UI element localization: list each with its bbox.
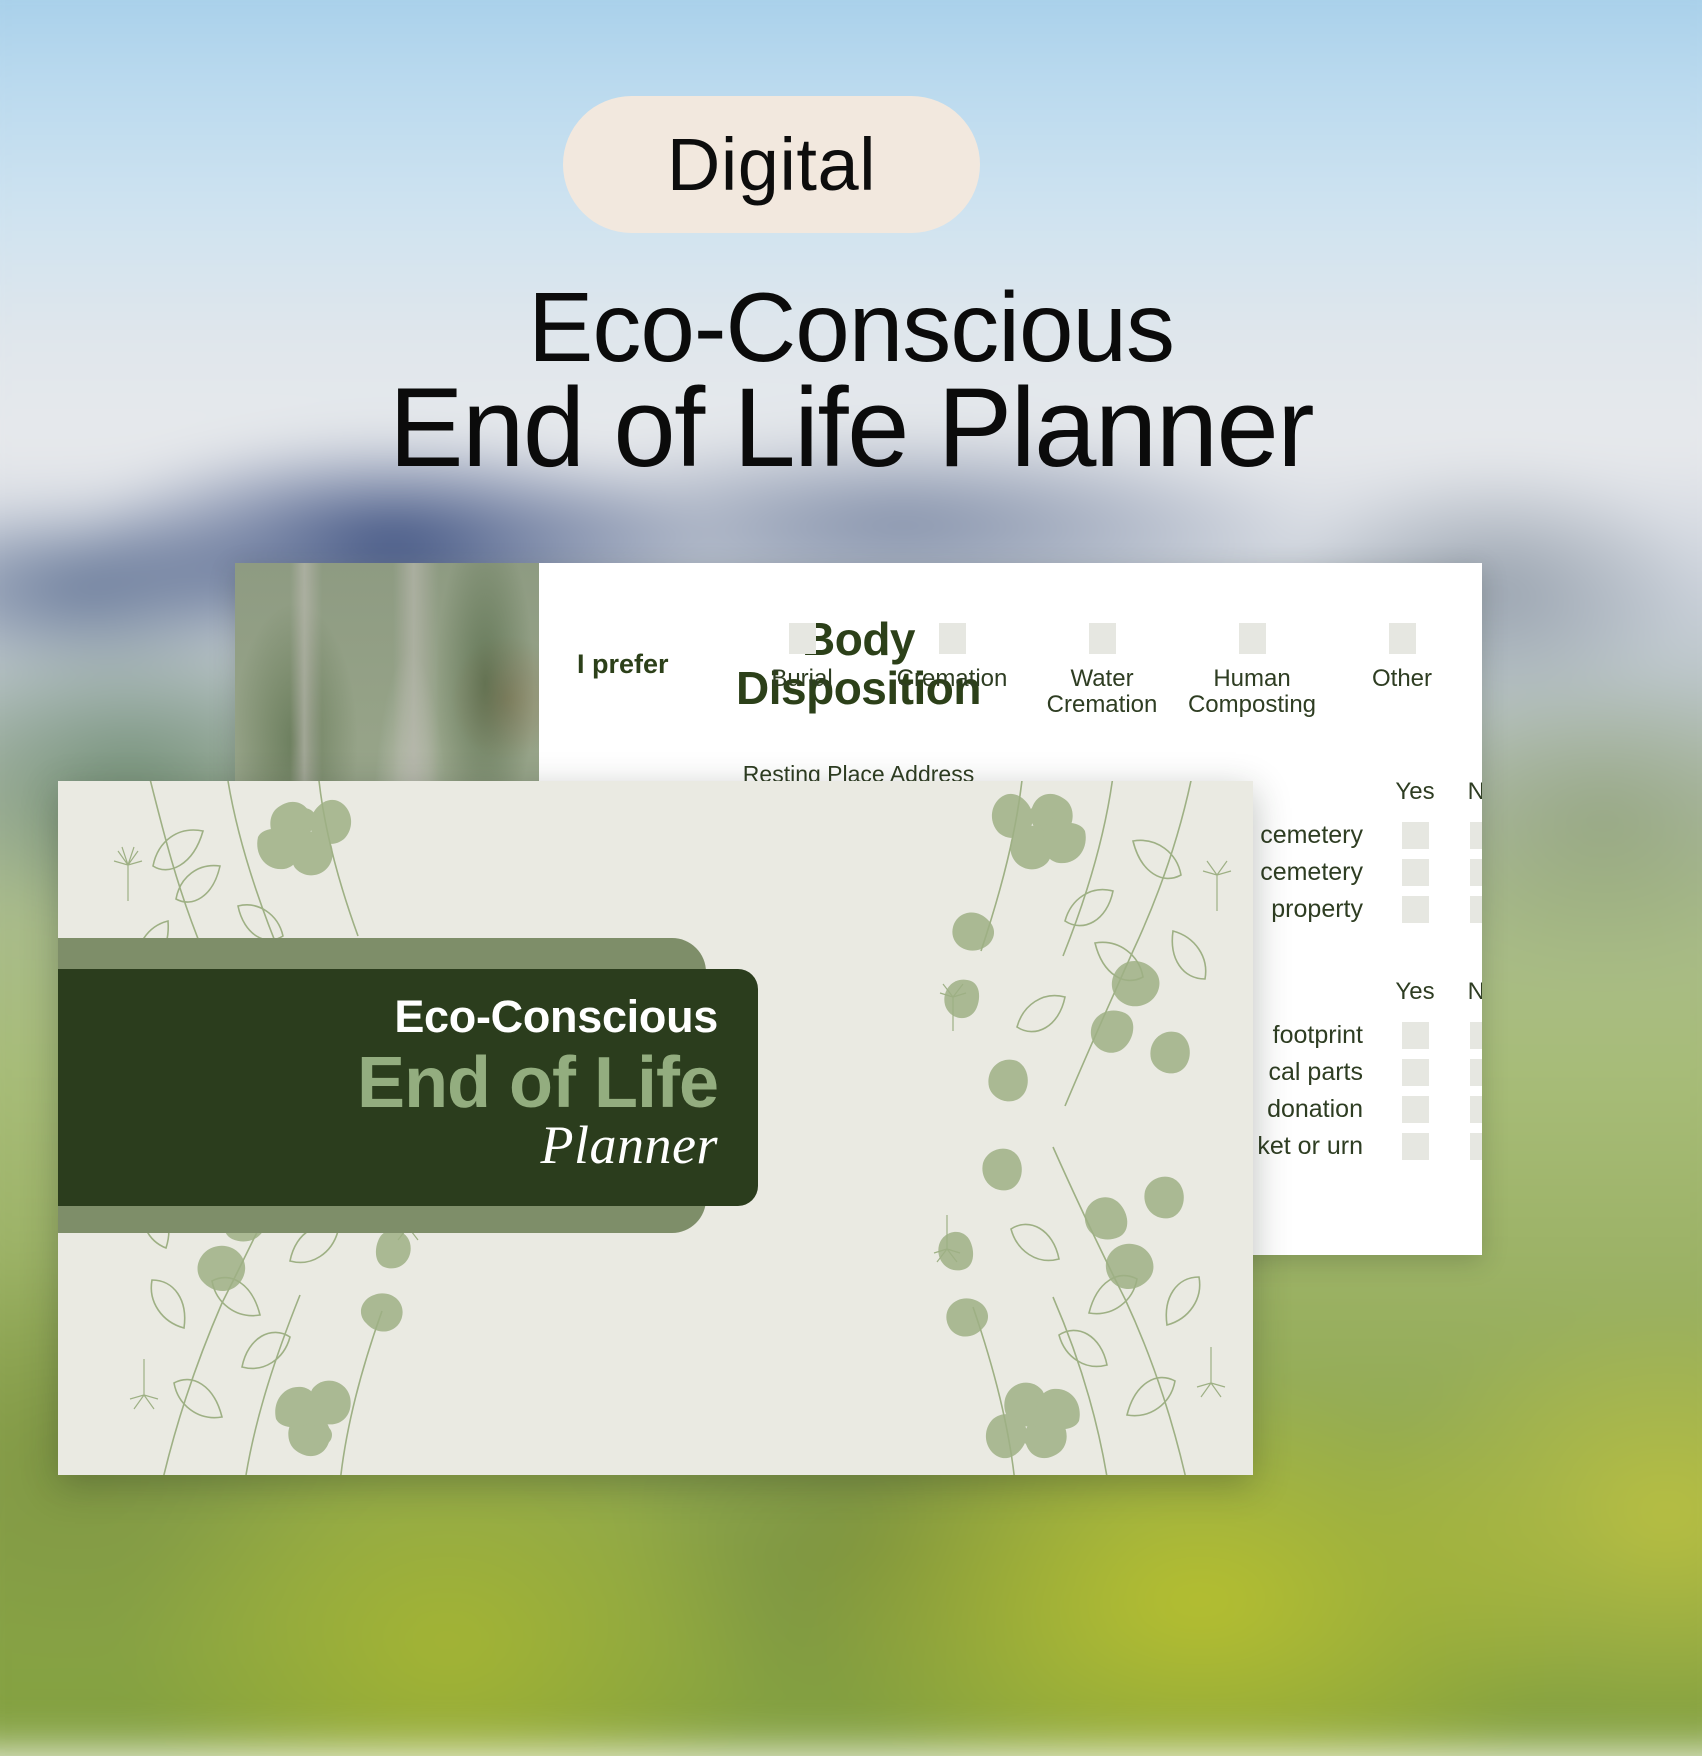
cell-no[interactable] [1449,859,1482,886]
checkbox-no[interactable] [1470,1022,1483,1049]
digital-badge-label: Digital [667,122,876,207]
checkbox-human-composting[interactable] [1239,623,1266,654]
checkbox-yes[interactable] [1402,896,1429,923]
checkbox-no[interactable] [1470,896,1483,923]
disposition-options: Burial Cremation Water Cremation Human C… [727,623,1482,718]
row-label: cal parts [1269,1058,1381,1087]
planner-cover-card[interactable]: Eco-Conscious End of Life Planner [58,781,1253,1475]
floral-decoration-icon [913,1143,1243,1475]
row-label: cemetery [1260,821,1381,850]
option-label-other: Other [1372,666,1432,692]
row-label: donation [1267,1095,1381,1124]
yes-no-header-1: Yes No [1260,778,1482,806]
table-row[interactable]: ket or urn [1257,1128,1482,1165]
cell-yes[interactable] [1381,1133,1449,1160]
cell-yes[interactable] [1381,896,1449,923]
checkbox-no[interactable] [1470,822,1483,849]
cell-yes[interactable] [1381,1022,1449,1049]
checkbox-yes[interactable] [1402,822,1429,849]
checkbox-burial[interactable] [789,623,816,654]
row-label: footprint [1273,1021,1381,1050]
preference-row: I prefer Burial Cremation Water Crematio… [577,623,1482,718]
cell-no[interactable] [1449,1059,1482,1086]
option-label-burial: Burial [771,666,832,692]
table-row[interactable]: footprint [1257,1017,1482,1054]
option-water-cremation[interactable]: Water Cremation [1027,623,1177,718]
row-label: property [1271,895,1381,924]
checkbox-cremation[interactable] [939,623,966,654]
checkbox-yes[interactable] [1402,1059,1429,1086]
cell-yes[interactable] [1381,822,1449,849]
page-title-line2: End of Life Planner [0,374,1702,482]
checkbox-yes[interactable] [1402,1096,1429,1123]
cover-eyebrow: Eco-Conscious [58,991,718,1043]
yes-no-table-2: Yes No footprint cal parts donation ket … [1257,978,1482,1165]
cover-title-block: Eco-Conscious End of Life Planner [58,969,758,1206]
cell-yes[interactable] [1381,859,1449,886]
yes-no-table-1: Yes No cemetery cemetery property [1260,778,1482,928]
digital-badge: Digital [563,96,980,233]
table-row[interactable]: cemetery [1260,817,1482,854]
cell-no[interactable] [1449,896,1482,923]
table-row[interactable]: donation [1257,1091,1482,1128]
checkbox-no[interactable] [1470,859,1483,886]
option-label-water-cremation: Water Cremation [1047,666,1158,718]
cell-yes[interactable] [1381,1059,1449,1086]
prefer-label: I prefer [577,649,727,680]
cell-no[interactable] [1449,822,1482,849]
option-label-cremation: Cremation [897,666,1008,692]
option-cremation[interactable]: Cremation [877,623,1027,718]
cover-script-title: Planner [58,1114,718,1176]
row-label: ket or urn [1257,1132,1381,1161]
column-header-no: No [1449,978,1482,1006]
cell-yes[interactable] [1381,1096,1449,1123]
cover-main-title: End of Life [58,1047,718,1120]
table-row[interactable]: cal parts [1257,1054,1482,1091]
checkbox-other[interactable] [1389,623,1416,654]
cell-no[interactable] [1449,1022,1482,1049]
checkbox-no[interactable] [1470,1059,1483,1086]
option-label-human-composting: Human Composting [1188,666,1316,718]
page-title-line1: Eco-Conscious [0,280,1702,374]
floral-decoration-icon [923,781,1253,1111]
checkbox-water-cremation[interactable] [1089,623,1116,654]
table-row[interactable]: cemetery [1260,854,1482,891]
page-title: Eco-Conscious End of Life Planner [0,280,1702,482]
checkbox-yes[interactable] [1402,859,1429,886]
option-burial[interactable]: Burial [727,623,877,718]
checkbox-yes[interactable] [1402,1133,1429,1160]
option-other[interactable]: Other [1327,623,1477,718]
checkbox-yes[interactable] [1402,1022,1429,1049]
option-human-composting[interactable]: Human Composting [1177,623,1327,718]
cell-no[interactable] [1449,1096,1482,1123]
table-row[interactable]: property [1260,891,1482,928]
checkbox-no[interactable] [1470,1096,1483,1123]
column-header-yes: Yes [1381,978,1449,1006]
column-header-no: No [1449,778,1482,806]
column-header-yes: Yes [1381,778,1449,806]
checkbox-no[interactable] [1470,1133,1483,1160]
yes-no-header-2: Yes No [1257,978,1482,1006]
row-label: cemetery [1260,858,1381,887]
cell-no[interactable] [1449,1133,1482,1160]
